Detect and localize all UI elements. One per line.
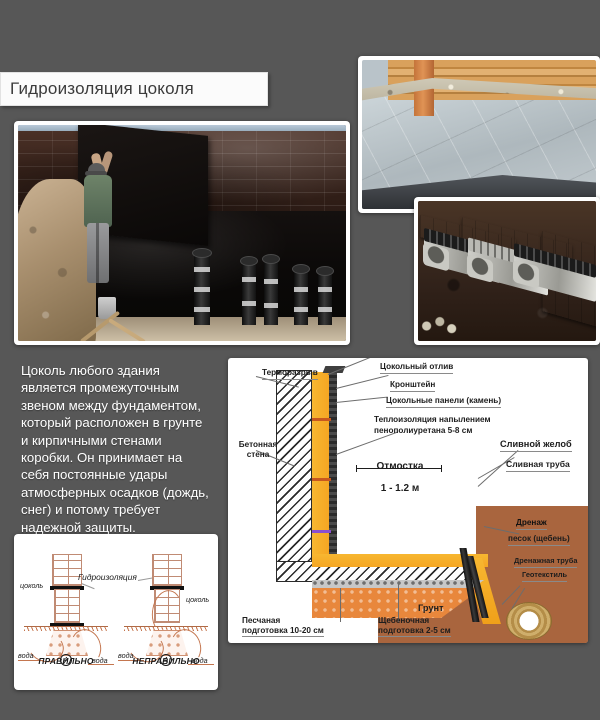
incorrect-brick-wall xyxy=(152,554,182,586)
worker-torso xyxy=(84,175,112,227)
correct-incorrect-comparison: Гидроизоляция цоколь вода вода A ПРАВИЛЬ… xyxy=(14,534,218,690)
incorrect-verdict: НЕПРАВИЛЬНО xyxy=(118,656,214,666)
page-title: Гидроизоляция цоколя xyxy=(1,79,194,99)
leader-peschanaya xyxy=(340,588,341,622)
photo-waterproofing-application xyxy=(14,121,350,345)
diagram-bracket-3 xyxy=(312,530,331,533)
correct-verdict: ПРАВИЛЬНО xyxy=(18,656,114,666)
diagram-socle-panel xyxy=(329,372,337,562)
page-root: Гидроизоляция цоколя xyxy=(0,0,600,720)
diagram-otmostka-dimension-line xyxy=(356,468,442,469)
diagram-label-peschanaya: Песчаная подготовка 10-20 см xyxy=(242,616,324,637)
photo-blind-area-corner xyxy=(358,56,600,213)
diagram-label-shcheben: Щебеночная подготовка 2-5 см xyxy=(378,616,451,637)
diagram-label-drenazhnaya-truba: Дренажная труба xyxy=(514,556,577,568)
diagram-label-slivnaya-truba: Сливная труба xyxy=(506,460,570,472)
foundation-section-diagram: Отмостка 1 - 1.2 м Цокольный отлив Кронш… xyxy=(228,358,588,643)
photo-drain-pipe-5 xyxy=(318,271,332,325)
diagram-bracket-2 xyxy=(312,478,331,481)
page-title-box: Гидроизоляция цоколя xyxy=(0,72,268,106)
comparison-hydro-label: Гидроизоляция xyxy=(78,572,137,582)
photo-drainage-channels xyxy=(414,197,600,345)
diagram-label-betonnaya-stena: Бетонная стена xyxy=(234,440,282,459)
incorrect-socle-text: цоколь xyxy=(186,595,209,604)
correct-socle-block xyxy=(54,589,80,623)
correct-socle-text: цоколь xyxy=(20,581,43,590)
diagram-label-termorazryv: Терморазрыв xyxy=(262,368,318,380)
photo-drain-pipe-4 xyxy=(294,269,308,325)
leader-panels xyxy=(336,397,388,403)
diagram-label-cokolny-otliv: Цокольный отлив xyxy=(380,362,453,374)
intro-paragraph: Цоколь любого здания является промежуточ… xyxy=(21,362,221,536)
photo-waterproofing-inner xyxy=(18,125,346,341)
photo-drainage-inner xyxy=(418,201,596,341)
diagram-label-slivnoy-zhelob: Сливной желоб xyxy=(500,440,572,452)
diagram-label-pesok-sheben: песок (щебень) xyxy=(508,534,570,546)
leader-kronshtein xyxy=(336,375,389,389)
diagram-bracket-1 xyxy=(312,418,331,421)
diagram-insulation-vertical xyxy=(312,372,329,562)
comparison-correct-case: цоколь вода вода A ПРАВИЛЬНО xyxy=(18,548,114,674)
diagram-label-drenazh: Дренаж xyxy=(516,518,547,530)
diagram-label-kronshtein: Кронштейн xyxy=(390,380,435,392)
comparison-incorrect-case: цоколь вода вода A НЕПРАВИЛЬНО xyxy=(118,548,214,674)
diagram-otmostka-size: 1 - 1.2 м xyxy=(381,483,420,494)
photo-blind-area-inner xyxy=(362,60,596,209)
diagram-label-geotekstil: Геотекстиль xyxy=(522,570,567,582)
photo-worker-figure xyxy=(80,153,120,291)
photo-loose-stones xyxy=(420,315,464,337)
diagram-otmostka-label: Отмостка xyxy=(377,461,424,472)
diagram-label-grunt: Грунт xyxy=(418,604,444,614)
diagram-label-teploizolyaciya: Теплоизоляция напылением пенополиуретана… xyxy=(374,414,491,436)
worker-legs xyxy=(87,223,109,283)
diagram-otmostka-dimension: Отмостка 1 - 1.2 м xyxy=(354,450,446,494)
photo-drain-pipe-3 xyxy=(264,259,278,325)
diagram-label-cokolnye-paneli: Цокольные панели (камень) xyxy=(386,396,501,408)
photo-drain-pipe-1 xyxy=(194,253,210,325)
photo-drain-pipe-2 xyxy=(242,261,256,325)
diagram-concrete-wall-shape xyxy=(276,370,312,580)
